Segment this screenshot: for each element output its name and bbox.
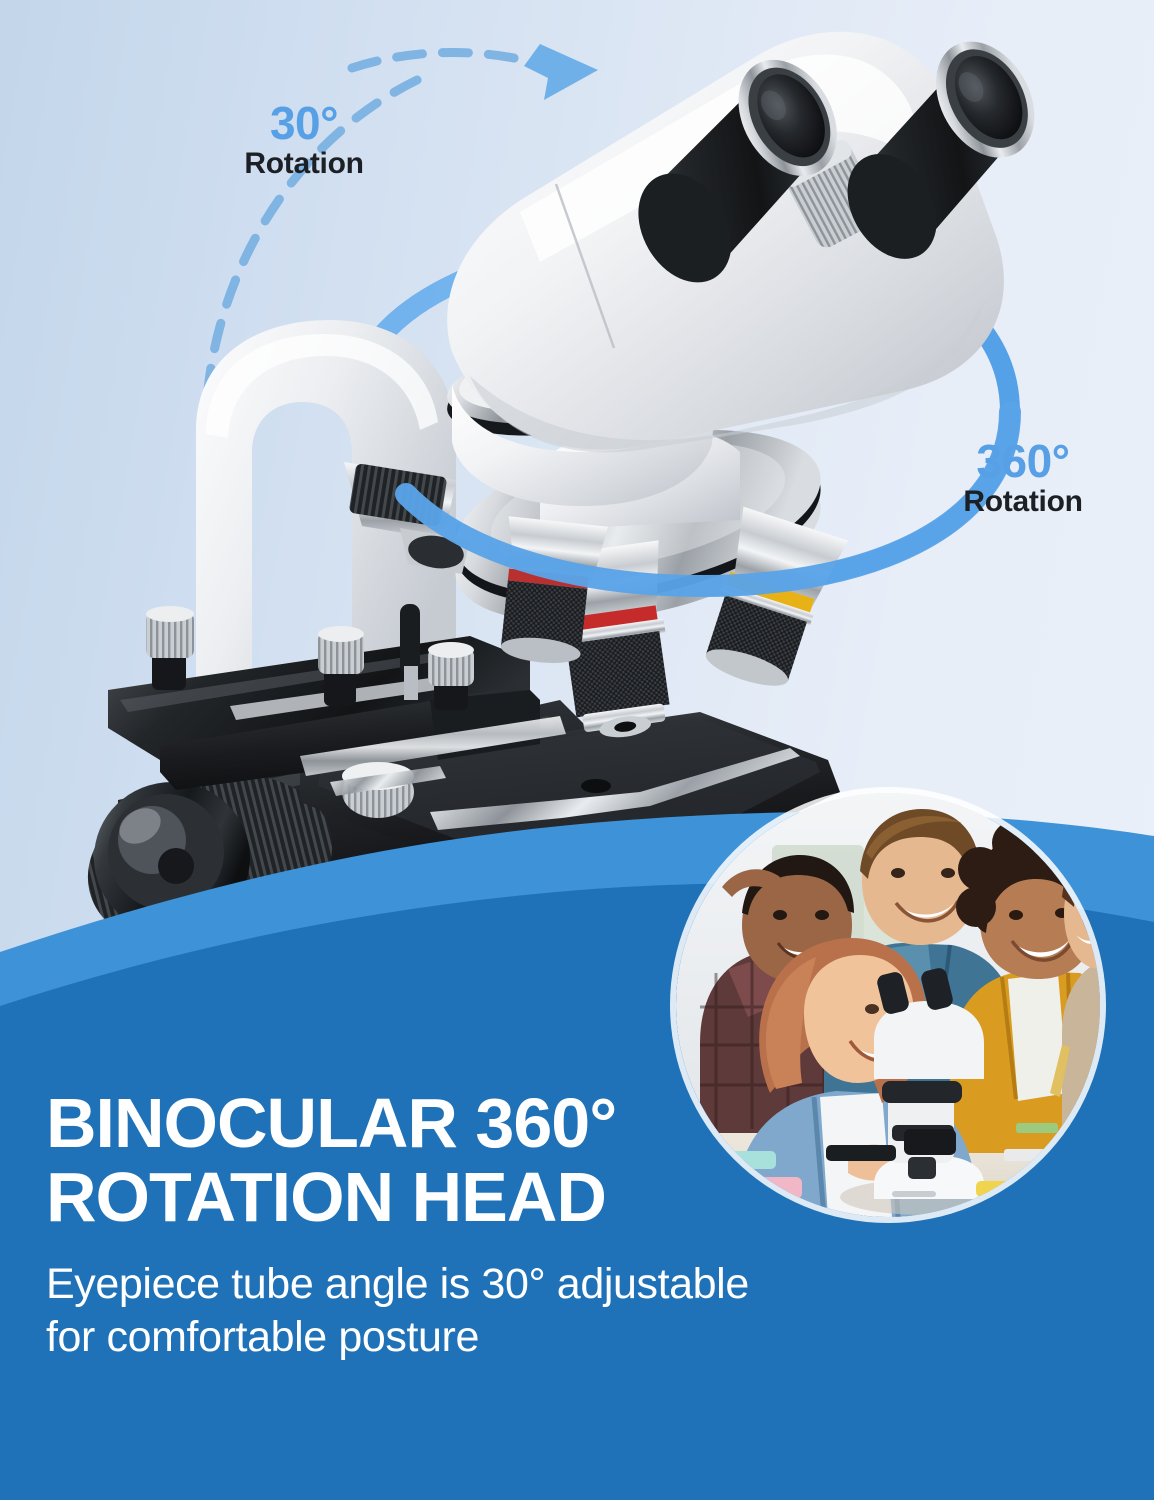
annotation-360-rotation-label: Rotation <box>918 487 1128 518</box>
desk-prop-green <box>1016 1123 1058 1133</box>
annotation-30-degrees-value: 30° <box>214 100 394 147</box>
fine-focus-knob <box>428 642 474 710</box>
page-subtitle: Eyepiece tube angle is 30° adjustable fo… <box>46 1258 786 1363</box>
stage-x-knob <box>146 606 194 690</box>
annotation-360-degrees-value: 360° <box>918 438 1128 485</box>
page-title: BINOCULAR 360° ROTATION HEAD <box>46 1086 786 1234</box>
annotation-30-rotation-label: Rotation <box>214 149 394 180</box>
desk-prop-paper <box>1004 1149 1060 1161</box>
annotation-360-degree: 360° Rotation <box>918 438 1128 518</box>
desk-prop-yellow <box>976 1181 1020 1197</box>
product-feature-poster: 30° Rotation 360° Rotation <box>0 0 1154 1500</box>
copy-block: BINOCULAR 360° ROTATION HEAD Eyepiece tu… <box>46 1086 786 1363</box>
annotation-30-degree: 30° Rotation <box>214 100 394 180</box>
